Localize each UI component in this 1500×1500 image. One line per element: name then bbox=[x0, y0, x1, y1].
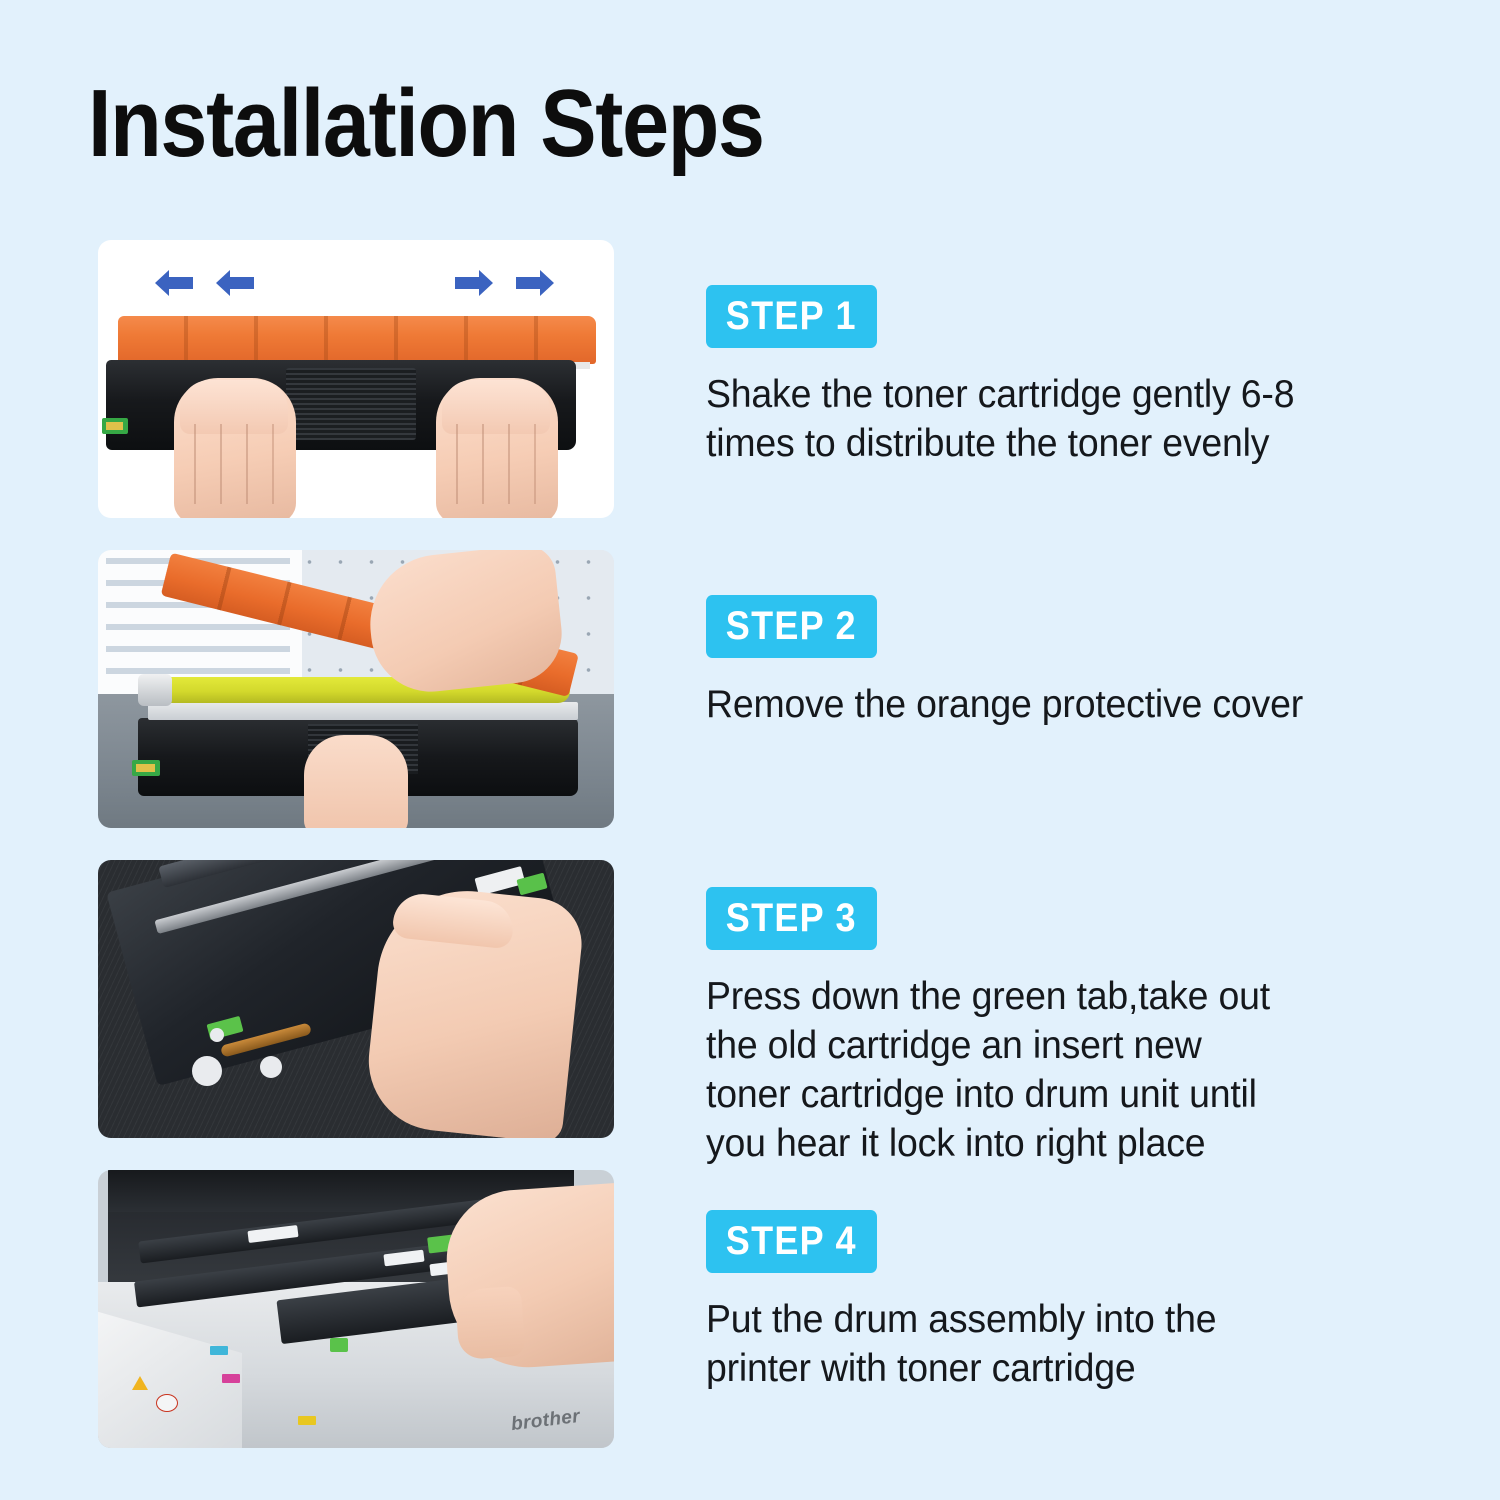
cartridge-chip bbox=[132, 760, 160, 776]
step-3-image bbox=[98, 860, 614, 1138]
left-hand bbox=[174, 378, 296, 518]
green-tab-lower bbox=[330, 1338, 348, 1352]
arrow-left-icon-1 bbox=[155, 270, 193, 296]
right-hand bbox=[436, 378, 558, 518]
step-1-description: Shake the toner cartridge gently 6-8 tim… bbox=[706, 370, 1397, 468]
step-2-description: Remove the orange protective cover bbox=[706, 680, 1397, 729]
prohibition-icon bbox=[156, 1394, 178, 1412]
yellow-color-swatch bbox=[298, 1416, 316, 1425]
cartridge-chip bbox=[102, 418, 128, 434]
drum-end-cap bbox=[138, 674, 172, 706]
white-knob-2 bbox=[260, 1056, 282, 1078]
step-2-image bbox=[98, 550, 614, 828]
step-4-image: brother bbox=[98, 1170, 614, 1448]
cyan-color-swatch bbox=[210, 1346, 228, 1355]
pressing-hand bbox=[362, 882, 586, 1138]
step-2-text: STEP 2 Remove the orange protective cove… bbox=[706, 550, 1426, 729]
step-4-description: Put the drum assembly into the printer w… bbox=[706, 1295, 1397, 1393]
step-3-badge: STEP 3 bbox=[706, 887, 877, 950]
magenta-color-swatch bbox=[222, 1374, 240, 1383]
step-2-badge: STEP 2 bbox=[706, 595, 877, 658]
step-3-description: Press down the green tab,take out the ol… bbox=[706, 972, 1397, 1168]
white-knob-1 bbox=[192, 1056, 222, 1086]
arrow-right-icon-2 bbox=[516, 270, 554, 296]
step-4-badge: STEP 4 bbox=[706, 1210, 877, 1273]
page-title: Installation Steps bbox=[88, 72, 764, 176]
inserting-hand bbox=[442, 1181, 614, 1372]
supporting-hand bbox=[304, 735, 408, 828]
toner-orange-cover bbox=[118, 316, 596, 364]
white-knob-3 bbox=[210, 1028, 224, 1042]
step-3-text: STEP 3 Press down the green tab,take out… bbox=[706, 860, 1426, 1168]
cartridge-label-strip bbox=[148, 702, 578, 720]
arrow-right-icon-1 bbox=[455, 270, 493, 296]
step-1-image bbox=[98, 240, 614, 518]
lifting-hand bbox=[363, 550, 566, 698]
step-1-text: STEP 1 Shake the toner cartridge gently … bbox=[706, 240, 1426, 468]
step-4-text: STEP 4 Put the drum assembly into the pr… bbox=[706, 1170, 1426, 1393]
arrow-left-icon-2 bbox=[216, 270, 254, 296]
step-1-badge: STEP 1 bbox=[706, 285, 877, 348]
